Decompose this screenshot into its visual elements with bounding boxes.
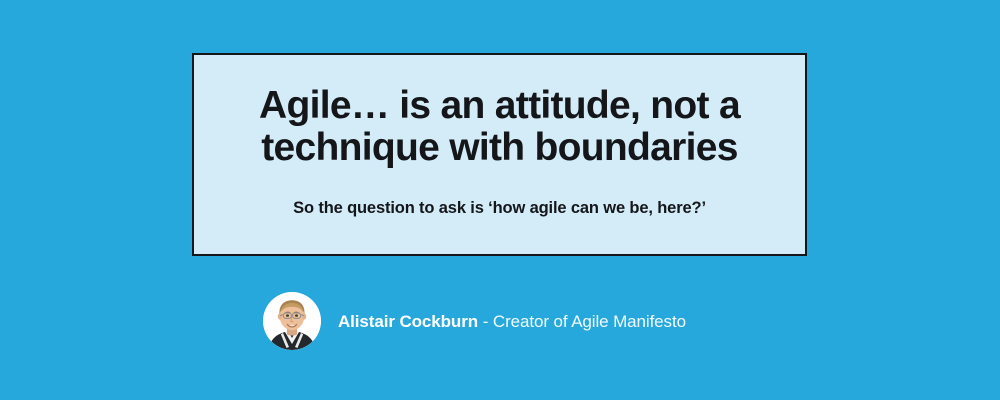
- person-photo-avatar-icon: [263, 292, 321, 350]
- quote-card: Agile… is an attitude, not a technique w…: [192, 53, 807, 256]
- attribution-text: Alistair Cockburn - Creator of Agile Man…: [338, 313, 686, 330]
- author-role: - Creator of Agile Manifesto: [483, 312, 686, 331]
- quote-slide: Agile… is an attitude, not a technique w…: [0, 0, 1000, 400]
- quote-headline: Agile… is an attitude, not a technique w…: [194, 55, 805, 169]
- author-name: Alistair Cockburn: [338, 312, 478, 331]
- quote-subtitle: So the question to ask is ‘how agile can…: [194, 169, 805, 219]
- attribution: Alistair Cockburn - Creator of Agile Man…: [263, 292, 686, 350]
- avatar: [263, 292, 321, 350]
